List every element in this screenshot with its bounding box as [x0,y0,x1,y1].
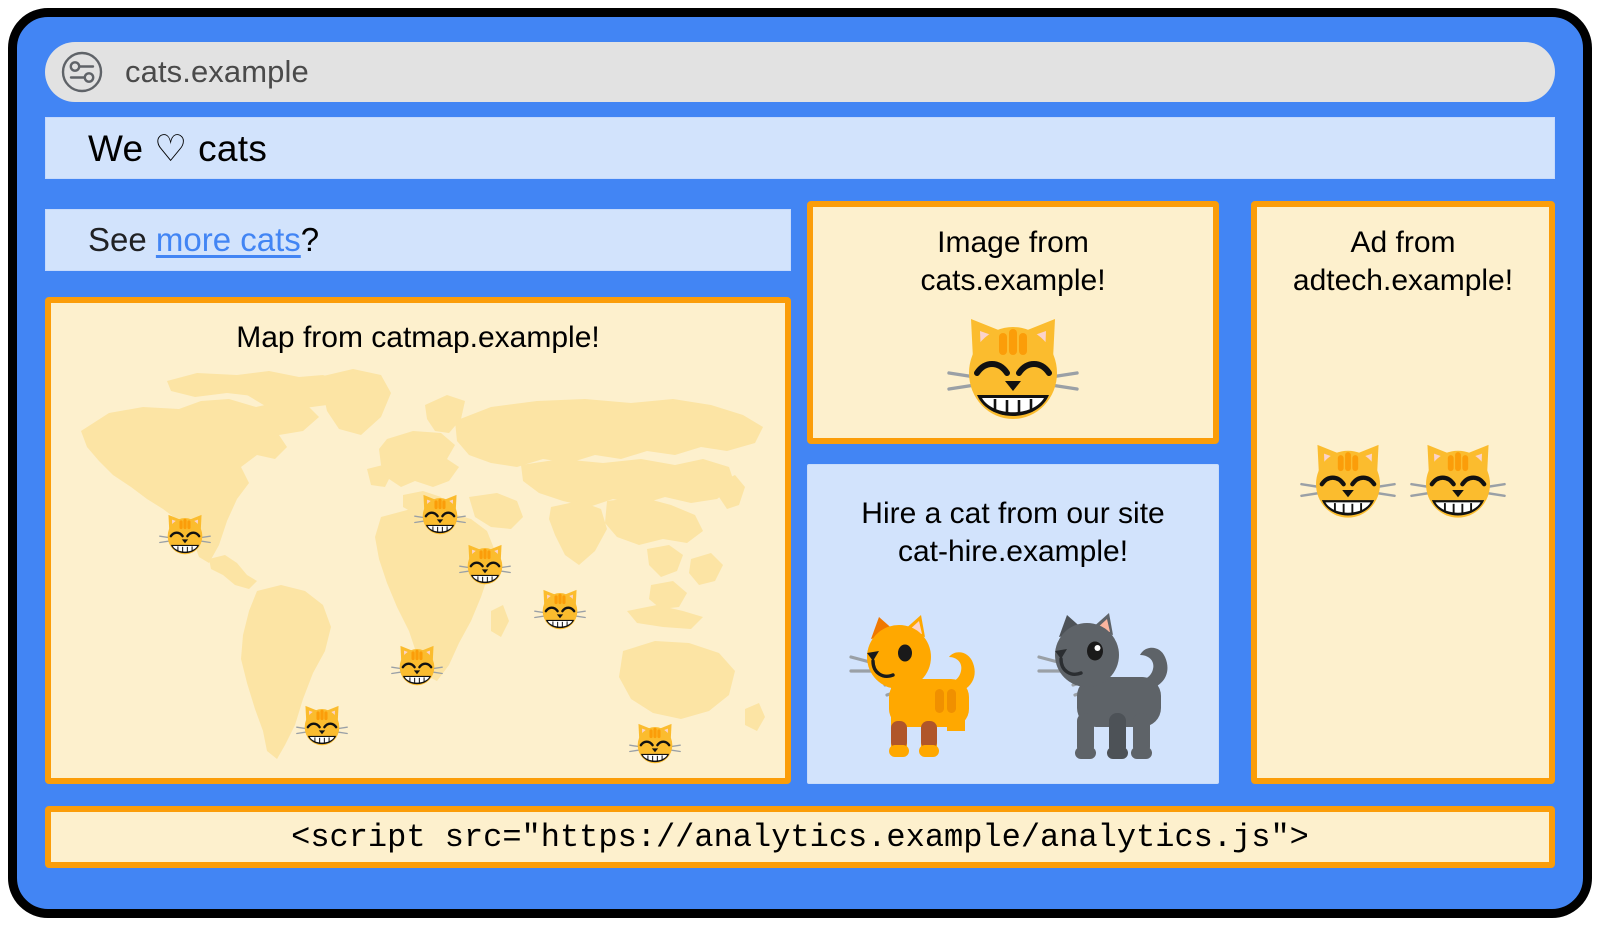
url-text: cats.example [125,54,309,90]
script-tag-code: <script src="https://analytics.example/a… [291,819,1309,856]
site-heading-band: We ♡ cats [45,117,1555,179]
image-panel-title-line1: Image from [813,224,1213,262]
hire-panel-title-line1: Hire a cat from our site [808,495,1218,533]
script-tag-panel: <script src="https://analytics.example/a… [45,806,1555,868]
link-row-suffix: ? [301,221,319,258]
tune-sliders-icon[interactable] [61,51,103,93]
ad-cat-icons [1257,439,1549,525]
image-panel-title-line2: cats.example! [813,262,1213,300]
heading-suffix: cats [188,128,268,169]
more-cats-link[interactable]: more cats [156,221,301,258]
world-map-silhouette [51,359,785,779]
grinning-cat-face-icon [1300,439,1396,525]
url-bar[interactable]: cats.example [45,42,1555,102]
ad-panel[interactable]: Ad from adtech.example! [1251,201,1555,784]
map-pin-south-asia[interactable] [534,584,586,636]
map-pin-central-europe[interactable] [459,539,511,591]
map-pin-south-america[interactable] [296,700,348,752]
ad-panel-title: Ad from adtech.example! [1257,224,1549,299]
link-row-prefix: See [88,221,156,258]
world-map[interactable] [51,359,785,779]
link-row: See more cats? [45,209,791,271]
map-panel[interactable]: Map from catmap.example! [45,297,791,784]
site-heading-text: We ♡ cats [88,127,267,170]
grinning-cat-face-icon [1410,439,1506,525]
link-row-text: See more cats? [88,221,319,259]
orange-cat-icon [843,609,993,761]
grinning-cat-face-icon [947,311,1079,429]
heading-prefix: We [88,128,154,169]
map-panel-title: Map from catmap.example! [51,319,785,357]
map-pin-north-america[interactable] [159,509,211,561]
heart-icon: ♡ [154,128,187,169]
ad-panel-title-line1: Ad from [1257,224,1549,262]
hire-panel-title: Hire a cat from our site cat-hire.exampl… [808,495,1218,570]
ad-panel-title-line2: adtech.example! [1257,262,1549,300]
browser-window: cats.example We ♡ cats See more cats? Ma… [8,8,1592,918]
map-pin-australia[interactable] [629,718,681,770]
image-panel-title: Image from cats.example! [813,224,1213,299]
map-pin-northern-europe[interactable] [414,489,466,541]
gray-cat-icon [1033,609,1183,761]
hire-panel[interactable]: Hire a cat from our site cat-hire.exampl… [807,464,1219,784]
hire-cat-illustrations [808,609,1218,761]
map-pin-africa[interactable] [391,640,443,692]
hire-panel-title-line2: cat-hire.example! [808,533,1218,571]
image-panel[interactable]: Image from cats.example! [807,201,1219,444]
